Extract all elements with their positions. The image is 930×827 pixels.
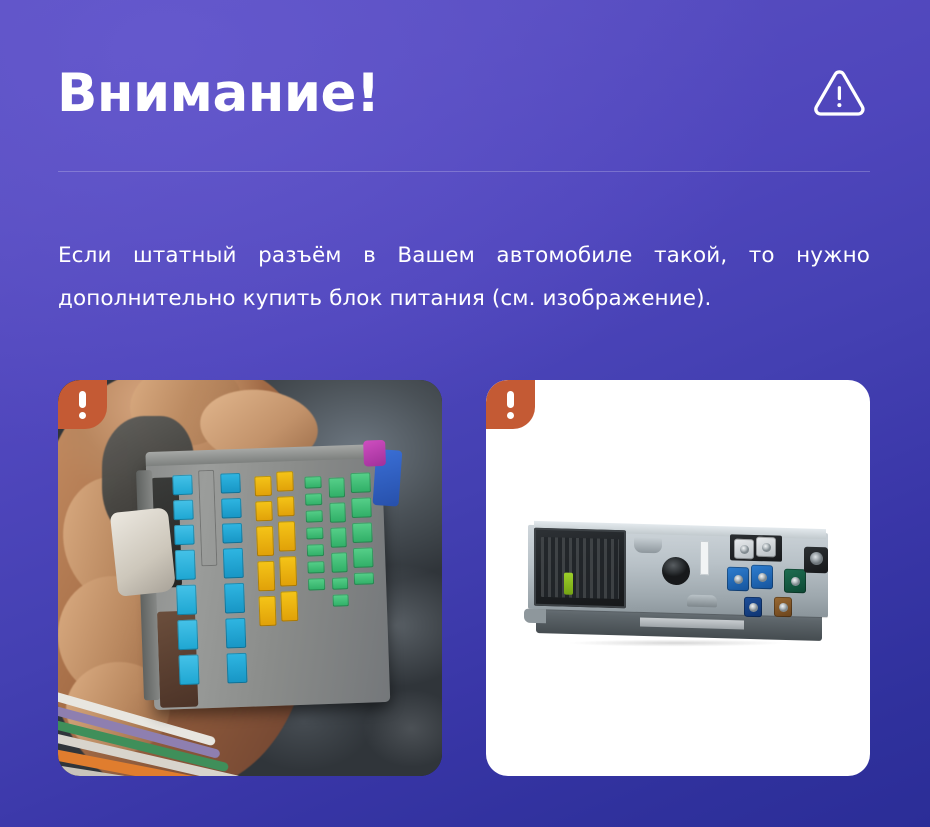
pin-slot [224, 583, 245, 614]
coax-connector-navy [744, 597, 762, 618]
pin-slot [173, 500, 194, 521]
pin-slot [332, 594, 348, 607]
white-retainer-clip [110, 507, 176, 597]
pin-column-yellow-b [276, 471, 298, 622]
round-knob [662, 557, 690, 586]
pin-slot [308, 578, 325, 591]
pin-slot [258, 596, 276, 627]
coax-connector-blue [727, 567, 749, 592]
coax-connector-white [734, 539, 754, 560]
exclamation-glyph [507, 391, 514, 418]
exclamation-badge-icon [486, 380, 535, 429]
pin-slot [276, 471, 294, 492]
pin-column-yellow-a [254, 476, 276, 627]
exclamation-glyph [79, 391, 86, 418]
pin-slot [278, 521, 296, 552]
exclamation-dot [507, 412, 514, 419]
screw-mount [804, 547, 828, 574]
pin-slot [225, 618, 246, 649]
pin-slot [256, 526, 274, 557]
power-supply-photo-image [486, 380, 870, 776]
pin-column-blue-b [198, 470, 217, 566]
exclamation-stem [79, 391, 86, 408]
attention-banner: Внимание! Если штатный разъём в Вашем ав… [0, 0, 930, 827]
pin-slot [220, 473, 241, 494]
pin-slot [277, 496, 295, 517]
pin-slot [178, 654, 199, 685]
unit-mount-foot [524, 609, 546, 624]
coax-connector-brown [774, 597, 792, 618]
header-divider [58, 171, 870, 172]
pin-column-green-a [304, 476, 325, 591]
metal-clip-lower [687, 595, 717, 608]
car-connector-body [146, 454, 391, 710]
power-supply-unit [522, 523, 842, 641]
pin-slot [351, 497, 372, 518]
banner-header: Внимание! [57, 50, 870, 138]
pin-slot [307, 544, 324, 557]
coax-connector-blue [751, 565, 773, 590]
pin-slot [221, 498, 242, 519]
pin-slot [172, 475, 193, 496]
pin-slot [177, 619, 198, 650]
pin-column-blue-c [220, 473, 247, 684]
pin-slot [352, 522, 373, 543]
pin-slot [331, 552, 348, 573]
notice-line-2: дополнительно купить блок питания (см. и… [58, 277, 870, 320]
connector-photo-image [58, 380, 442, 776]
coax-connector-green [784, 569, 806, 594]
metal-clip [634, 537, 662, 554]
pin-slot [305, 493, 322, 506]
exclamation-dot [79, 412, 86, 419]
power-supply-photo-card[interactable] [486, 380, 870, 776]
image-card-row [58, 380, 870, 776]
white-label-tag [700, 541, 709, 575]
pin-slot [306, 510, 323, 523]
pin-slot [175, 550, 196, 581]
pin-slot [307, 561, 324, 574]
coax-connector-white [756, 537, 776, 558]
pin-slot [222, 523, 243, 544]
pin-slot [280, 591, 298, 622]
pin-slot [255, 501, 273, 522]
pin-slot [306, 527, 323, 540]
pin-slot [353, 547, 374, 568]
pin-slot [174, 525, 195, 546]
pin-slot [279, 556, 297, 587]
pin-slot [328, 477, 345, 498]
pin-column-green-c [350, 472, 374, 585]
connector-photo-card[interactable] [58, 380, 442, 776]
connector-pin-grid [541, 537, 619, 599]
pin-column-green-b [328, 477, 348, 606]
pin-slot [226, 653, 247, 684]
pin-slot [332, 577, 348, 590]
notice-paragraph: Если штатный разъём в Вашем автомобиле т… [58, 234, 870, 320]
exclamation-badge-icon [58, 380, 107, 429]
notice-line-1: Если штатный разъём в Вашем автомобиле т… [58, 234, 870, 277]
pin-slot [354, 572, 374, 585]
pink-clip [363, 440, 386, 467]
pin-slot [330, 527, 347, 548]
green-lock-tab [564, 573, 573, 595]
pin-slot [304, 476, 321, 489]
pin-slot [198, 470, 217, 566]
pin-slot [257, 561, 275, 592]
pin-slot [254, 476, 272, 497]
page-title: Внимание! [57, 66, 380, 122]
warning-triangle-icon [812, 67, 866, 121]
pin-slot [350, 472, 371, 493]
exclamation-stem [507, 391, 514, 408]
pin-slot [223, 548, 244, 579]
pin-slot [176, 585, 197, 616]
pin-slot [329, 502, 346, 523]
quadlock-connector [534, 528, 626, 609]
